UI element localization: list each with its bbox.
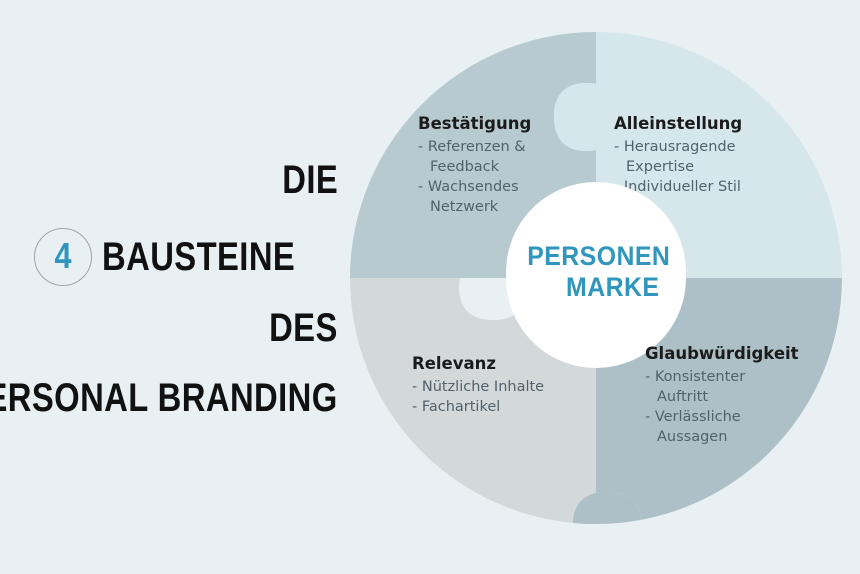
count-badge: 4 — [34, 228, 92, 286]
center-brand-line-1: PERSONEN — [527, 241, 670, 272]
list-item: Verlässliche Aussagen — [645, 407, 840, 447]
headline-line-personal-branding: PERSONAL BRANDING — [0, 378, 338, 418]
count-badge-number: 4 — [55, 238, 72, 274]
list-item: Referenzen & Feedback — [418, 137, 588, 177]
headline-line-des: DES — [269, 308, 338, 348]
quadrant-list-alleinstellung: Herausragende Expertise Individueller St… — [614, 137, 804, 197]
quadrant-title-alleinstellung: Alleinstellung — [614, 114, 804, 135]
list-item: Nützliche Inhalte — [412, 377, 602, 397]
list-item: Fachartikel — [412, 397, 602, 417]
list-item: Konsistenter Auftritt — [645, 367, 840, 407]
center-brand-badge: PERSONEN MARKE — [506, 182, 686, 362]
puzzle-diagram: Bestätigung Referenzen & Feedback Wachse… — [340, 22, 852, 534]
quadrant-title-bestaetigung: Bestätigung — [418, 114, 588, 135]
infographic-canvas: DIE 4 BAUSTEINE DES PERSONAL BRANDING — [0, 0, 860, 574]
quadrant-list-relevanz: Nützliche Inhalte Fachartikel — [412, 377, 602, 417]
list-item: Individueller Stil — [614, 177, 804, 197]
quadrant-label-glaubwuerdigkeit: Glaubwürdigkeit Konsistenter Auftritt Ve… — [645, 344, 840, 447]
quadrant-label-alleinstellung: Alleinstellung Herausragende Expertise I… — [614, 114, 804, 197]
list-item: Herausragende Expertise — [614, 137, 804, 177]
headline-row-bausteine: 4 BAUSTEINE — [34, 228, 338, 286]
quadrant-list-glaubwuerdigkeit: Konsistenter Auftritt Verlässliche Aussa… — [645, 367, 840, 447]
quadrant-title-glaubwuerdigkeit: Glaubwürdigkeit — [645, 344, 840, 365]
headline-line-die: DIE — [282, 160, 338, 200]
headline-line-bausteine: BAUSTEINE — [102, 237, 295, 277]
quadrant-label-relevanz: Relevanz Nützliche Inhalte Fachartikel — [412, 354, 602, 417]
center-brand-line-2: MARKE — [566, 272, 659, 303]
